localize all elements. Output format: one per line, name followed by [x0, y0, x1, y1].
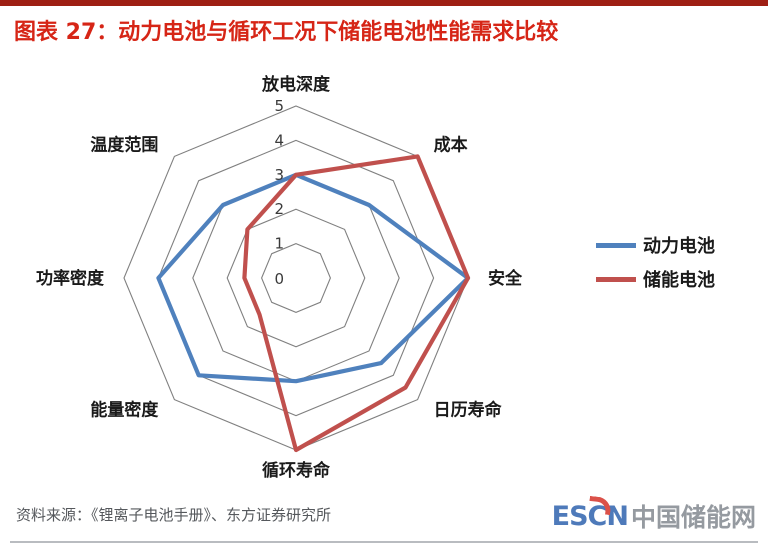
svg-text:5: 5: [274, 97, 284, 115]
chart-legend: 动力电池 储能电池: [596, 228, 761, 296]
legend-label-power-battery: 动力电池: [643, 232, 715, 258]
escn-logo-cn-text: 中国储能网: [631, 498, 756, 534]
top-rule: [0, 0, 768, 6]
svg-text:4: 4: [274, 131, 284, 149]
footer: 资料来源：《锂离子电池手册》、东方证券研究所 ESCN 中国储能网: [0, 496, 768, 548]
svg-text:能量密度: 能量密度: [90, 400, 159, 421]
svg-text:成本: 成本: [434, 134, 468, 155]
radar-series: [158, 156, 468, 450]
legend-item-power-battery: 动力电池: [596, 228, 761, 262]
svg-text:功率密度: 功率密度: [36, 268, 105, 289]
legend-swatch-storage-battery: [596, 277, 636, 282]
svg-text:0: 0: [274, 270, 284, 288]
legend-swatch-power-battery: [596, 243, 636, 248]
svg-text:循环寿命: 循环寿命: [262, 460, 331, 480]
legend-label-storage-battery: 储能电池: [643, 266, 715, 292]
source-note: 资料来源：《锂离子电池手册》、东方证券研究所: [16, 504, 331, 525]
svg-text:3: 3: [274, 166, 284, 184]
page-title: 图表 27：动力电池与循环工况下储能电池性能需求比较: [14, 14, 754, 46]
bottom-rule: [10, 541, 758, 543]
escn-watermark: ESCN 中国储能网: [552, 498, 756, 534]
escn-arc-icon: [588, 496, 612, 515]
svg-text:放电深度: 放电深度: [261, 74, 331, 95]
svg-text:1: 1: [274, 235, 284, 253]
legend-item-storage-battery: 储能电池: [596, 262, 761, 296]
svg-text:2: 2: [274, 200, 284, 218]
svg-text:安全: 安全: [488, 268, 523, 289]
svg-text:日历寿命: 日历寿命: [434, 400, 503, 421]
svg-text:温度范围: 温度范围: [90, 134, 158, 155]
